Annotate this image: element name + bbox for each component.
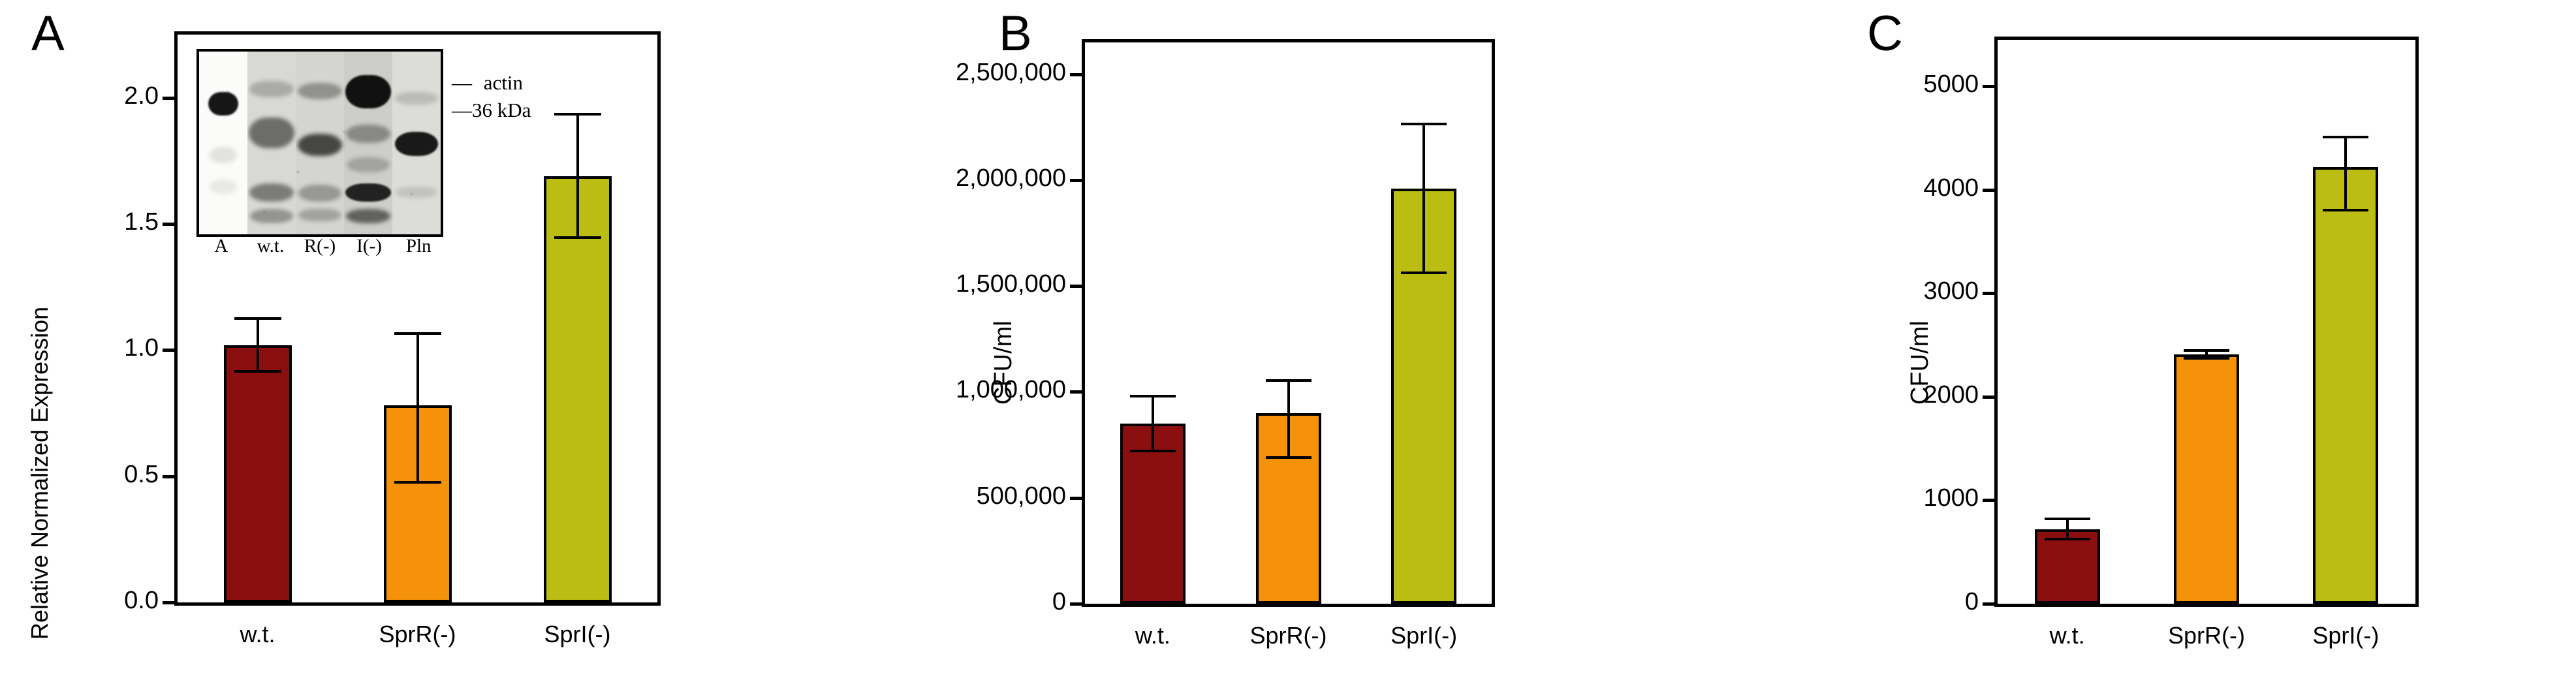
error-bar-cap-bottom [1266, 456, 1312, 459]
y-tick-label: 1000 [1923, 486, 1979, 510]
blot-lane-3 [344, 52, 392, 234]
error-bar-cap-bottom [2184, 357, 2229, 360]
panel-letter-b: B [999, 9, 1032, 59]
error-bar-cap-bottom [554, 236, 601, 239]
error-bar [2323, 136, 2368, 211]
blot-band [345, 75, 391, 108]
y-tick-mark [163, 601, 176, 604]
y-tick-mark [1983, 602, 1996, 606]
x-tick-label: SprI(-) [1319, 624, 1528, 647]
y-tick-label: 2000 [1923, 382, 1979, 407]
blot-lane-label-2: R(-) [295, 237, 345, 263]
error-bar [554, 113, 601, 239]
y-tick-mark [163, 223, 176, 226]
error-bar-stem [1287, 379, 1290, 459]
blot-band [347, 157, 390, 172]
error-bar-stem [416, 332, 419, 484]
y-tick-label: 2,000,000 [956, 166, 1066, 191]
panel-c: C CFU/ml 010002000300040005000w.t.SprR(-… [1671, 0, 2576, 684]
y-tick-label: 1,000,000 [956, 377, 1066, 402]
error-bar [2045, 518, 2090, 540]
y-tick-mark [163, 475, 176, 478]
y-tick-mark [163, 349, 176, 352]
error-bar-stem [2344, 136, 2347, 211]
blot-band [298, 83, 342, 99]
y-tick-label: 0 [1052, 589, 1066, 614]
blot-band [346, 125, 390, 143]
x-tick-label: SprI(-) [2241, 624, 2450, 647]
y-tick-label: 5000 [1923, 72, 1979, 97]
y-tick-mark [1070, 285, 1083, 288]
y-tick-label: 3000 [1923, 279, 1979, 303]
y-tick-mark [1070, 602, 1083, 606]
error-bar-cap-top [2045, 518, 2090, 520]
panel-b: B CFU/ml 0500,0001,000,0001,500,0002,000… [803, 0, 1671, 684]
error-bar-cap-top [1401, 123, 1447, 125]
error-bar-cap-top [2184, 349, 2229, 352]
y-tick-mark [1983, 85, 1996, 88]
blot-band [249, 117, 294, 149]
y-tick-mark [1070, 179, 1083, 182]
blot-band [298, 134, 342, 156]
error-bar-cap-top [1266, 379, 1312, 382]
y-tick-mark [1983, 292, 1996, 295]
blot-band [210, 147, 238, 163]
y-tick-mark [1070, 497, 1083, 500]
error-bar-cap-top [554, 113, 601, 116]
error-bar-cap-top [394, 332, 441, 335]
blot-band [298, 185, 342, 201]
y-tick-label: 0.5 [124, 462, 159, 487]
error-bar [234, 317, 281, 373]
error-bar [1130, 395, 1176, 452]
panel-a: A Relative Normalized Expression Aw.t.R(… [0, 0, 803, 684]
blot-band [345, 183, 391, 202]
error-bar-stem [257, 317, 259, 373]
error-bar-cap-bottom [2323, 209, 2368, 211]
blot-lane-2 [296, 52, 344, 234]
error-bar-stem [576, 113, 579, 239]
error-bar [2184, 349, 2229, 360]
blot-lane-0 [199, 52, 247, 234]
blot-band [396, 187, 437, 198]
y-tick-label: 1.5 [124, 210, 159, 234]
bar-sprr [2174, 354, 2239, 604]
panel-letter-a: A [31, 9, 65, 59]
y-tick-mark [163, 97, 176, 100]
y-tick-label: 0 [1965, 589, 1979, 614]
blot-band [249, 81, 294, 97]
annot-dash-actin: — [452, 71, 472, 94]
blot-lane-label-3: I(-) [345, 237, 394, 263]
error-bar-cap-bottom [1130, 450, 1176, 452]
bar-wt [224, 345, 292, 602]
blot-band [250, 209, 294, 223]
y-tick-mark [1983, 499, 1996, 502]
error-bar [1401, 123, 1447, 274]
error-bar-cap-top [1130, 395, 1176, 397]
error-bar-cap-bottom [394, 481, 441, 484]
y-tick-label: 1,500,000 [956, 272, 1066, 296]
blot-lane-label-0: A [196, 237, 246, 263]
y-tick-label: 0.0 [124, 588, 159, 613]
error-bar-cap-top [234, 317, 281, 320]
error-bar-cap-top [2323, 136, 2368, 138]
panel-letter-c: C [1867, 9, 1903, 59]
blot-annotation-actin: — actin [452, 72, 523, 93]
y-tick-mark [1070, 73, 1083, 76]
bar-spri [544, 176, 612, 602]
y-tick-label: 500,000 [977, 484, 1066, 508]
blot-lane-4 [392, 52, 441, 234]
blot-band [249, 183, 294, 202]
y-tick-mark [1983, 189, 1996, 192]
error-bar-stem [1152, 395, 1154, 452]
x-tick-label: SprI(-) [473, 623, 682, 646]
annot-label-36kda: 36 kDa [472, 99, 531, 121]
blot-lane-1 [247, 52, 296, 234]
y-tick-label: 1.0 [124, 335, 159, 360]
annot-dash-36kda: — [452, 99, 472, 121]
blot-band [210, 179, 238, 194]
blot-band [346, 209, 390, 223]
blot-lane-label-1: w.t. [246, 237, 296, 263]
y-tick-label: 4000 [1923, 176, 1979, 200]
blot-lane-labels: Aw.t.R(-)I(-)Pln [196, 237, 443, 263]
error-bar [1266, 379, 1312, 459]
annot-label-actin: actin [484, 71, 523, 94]
y-tick-label: 2,500,000 [956, 60, 1066, 85]
y-tick-mark [1983, 396, 1996, 399]
blot-band [395, 92, 437, 105]
error-bar-cap-bottom [2045, 538, 2090, 540]
error-bar [394, 332, 441, 484]
figure-root: A Relative Normalized Expression Aw.t.R(… [0, 0, 2576, 684]
error-bar-cap-bottom [1401, 272, 1447, 274]
y-tick-mark [1070, 390, 1083, 394]
western-blot-inset [196, 49, 443, 237]
error-bar-stem [1422, 123, 1425, 274]
blot-band [208, 92, 238, 116]
blot-lane-label-4: Pln [394, 237, 443, 263]
y-axis-label-a: Relative Normalized Expression [26, 307, 54, 640]
error-bar-cap-bottom [234, 370, 281, 373]
blot-band [395, 132, 439, 155]
error-bar-stem [2066, 518, 2069, 540]
y-tick-label: 2.0 [124, 84, 159, 108]
bar-spri [2313, 167, 2378, 604]
blot-band [298, 209, 341, 222]
blot-annotation-36kda: —36 kDa [452, 100, 531, 120]
